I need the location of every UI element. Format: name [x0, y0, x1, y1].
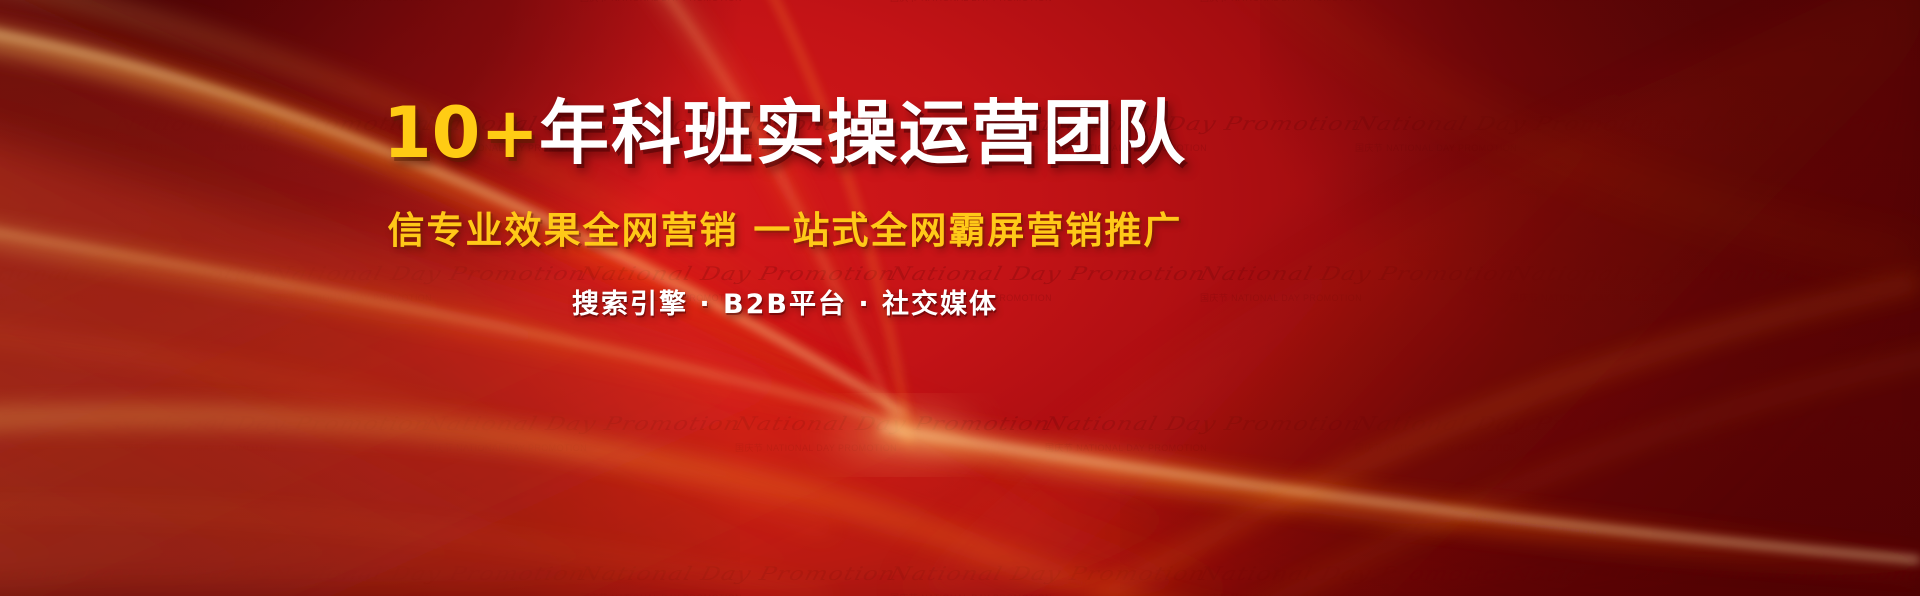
ribbon-graphics	[0, 0, 1920, 596]
promo-banner: National Day Promotion国庆节 NATIONAL DAY P…	[0, 0, 1920, 596]
